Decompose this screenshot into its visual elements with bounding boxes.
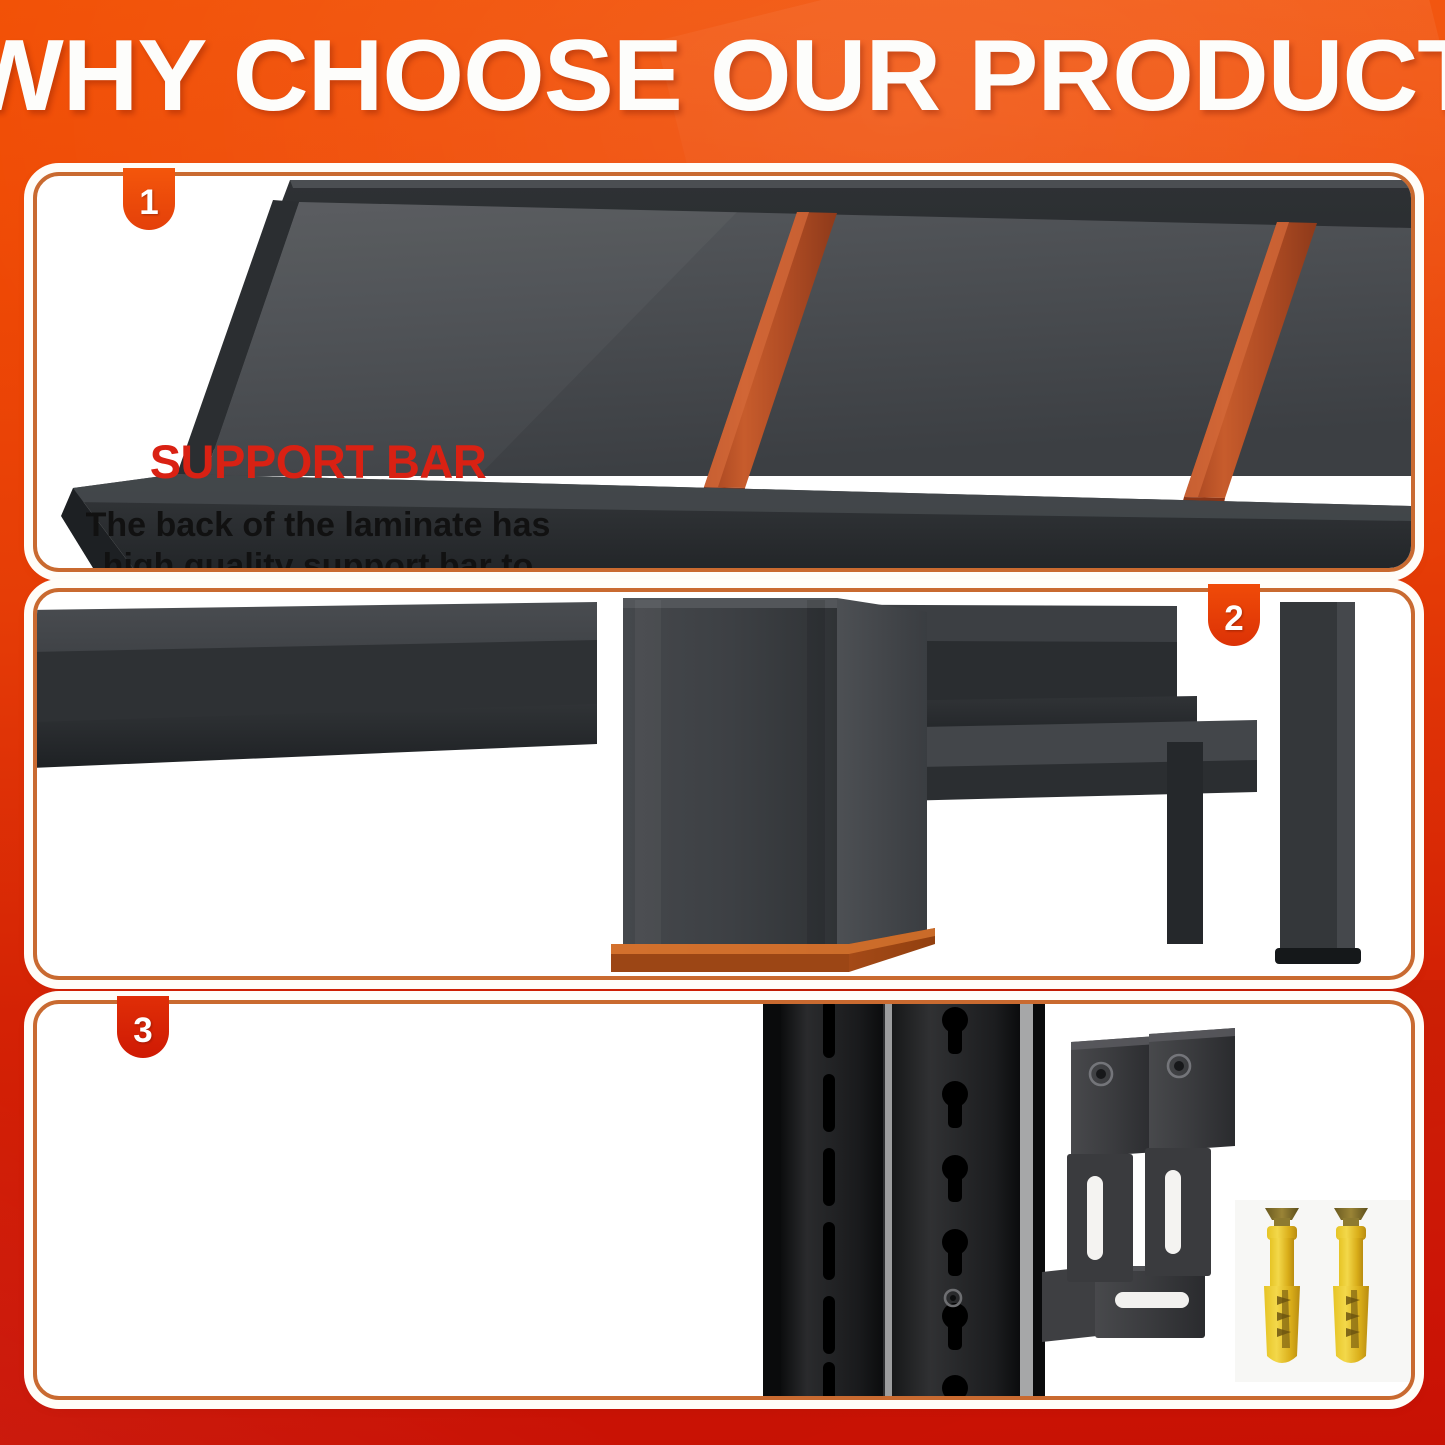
feature-panel-foot-pads: FOOT PADS The Foot pads not only pro-tec… [33, 588, 1415, 980]
clip-a [1067, 1036, 1157, 1282]
feature-1-body: The back of the laminate has high qualit… [83, 505, 553, 572]
feature-badge-1: 1 [123, 168, 175, 230]
page-title: WHY CHOOSE OUR PRODUCT [0, 22, 1445, 130]
feature-panel-support-bar: SUPPORT BAR The back of the laminate has… [33, 172, 1415, 572]
feature-badge-3: 3 [117, 996, 169, 1058]
feature-1-text: SUPPORT BAR The back of the laminate has… [83, 438, 553, 572]
feature-panel-anti-tipping-clips: ANTI-TIPPING CLIPS Anti-tipping clips ke… [33, 1000, 1415, 1400]
feature-badge-2: 2 [1208, 584, 1260, 646]
infographic-canvas: WHY CHOOSE OUR PRODUCT [0, 0, 1445, 1445]
clip-b [1145, 1028, 1235, 1276]
feature-1-heading: SUPPORT BAR [83, 438, 553, 485]
anti-tipping-clips-illustration [37, 1004, 1411, 1396]
shelf-leg-illustration [37, 592, 1411, 976]
